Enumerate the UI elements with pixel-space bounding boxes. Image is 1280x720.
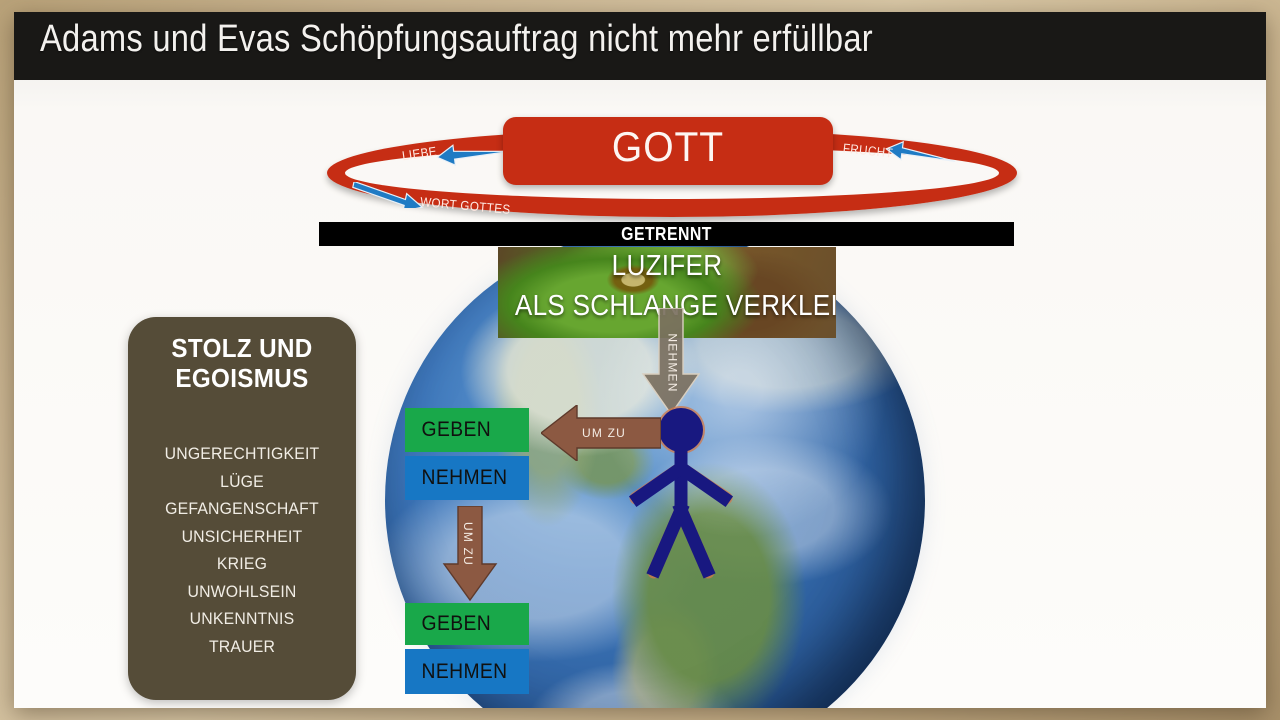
geben-label-top: GEBEN: [405, 418, 491, 442]
nehmen-box-top: NEHMEN: [405, 456, 529, 500]
list-item: UNSICHERHEIT: [143, 523, 340, 551]
page-title: Adams und Evas Schöpfungsauftrag nicht m…: [40, 18, 873, 61]
list-item: GEFANGENSCHAFT: [143, 495, 340, 523]
list-item: UNKENNTNIS: [143, 605, 340, 633]
list-item: UNGERECHTIGKEIT: [143, 440, 340, 468]
list-item: LÜGE: [143, 468, 340, 496]
list-item: UNWOHLSEIN: [143, 578, 340, 606]
slide-canvas: Adams und Evas Schöpfungsauftrag nicht m…: [14, 12, 1266, 708]
panel-title-line2: EGOISMUS: [145, 364, 338, 394]
nehmen-box-bottom: NEHMEN: [405, 649, 529, 694]
title-bar: Adams und Evas Schöpfungsauftrag nicht m…: [14, 12, 1266, 80]
geben-box-top: GEBEN: [405, 408, 529, 452]
panel-title: STOLZ UND EGOISMUS: [145, 334, 338, 394]
um-zu-down-label: UM ZU: [461, 522, 475, 566]
nehmen-arrow-label: NEHMEN: [666, 333, 680, 392]
god-box: GOTT: [503, 117, 833, 185]
wort-gottes-arrow-icon: [350, 182, 428, 208]
geben-label-bottom: GEBEN: [405, 612, 491, 636]
liebe-arrow-icon: [432, 140, 512, 166]
lucifer-label-line1: LUZIFER: [515, 250, 819, 283]
nehmen-label-bottom: NEHMEN: [405, 660, 507, 684]
consequences-panel: STOLZ UND EGOISMUS UNGERECHTIGKEIT LÜGE …: [128, 317, 356, 700]
god-label: GOTT: [515, 123, 822, 171]
nehmen-label-top: NEHMEN: [405, 466, 507, 490]
slide-background: Adams und Evas Schöpfungsauftrag nicht m…: [14, 12, 1266, 708]
separation-bar: GETRENNT: [319, 222, 1014, 246]
panel-title-line1: STOLZ UND: [145, 334, 338, 364]
geben-box-bottom: GEBEN: [405, 603, 529, 645]
um-zu-left-label: UM ZU: [582, 426, 626, 440]
list-item: KRIEG: [143, 550, 340, 578]
frucht-arrow-icon: [882, 140, 958, 166]
panel-list: UNGERECHTIGKEIT LÜGE GEFANGENSCHAFT UNSI…: [136, 440, 348, 660]
list-item: TRAUER: [143, 633, 340, 661]
separation-label: GETRENNT: [361, 224, 973, 245]
